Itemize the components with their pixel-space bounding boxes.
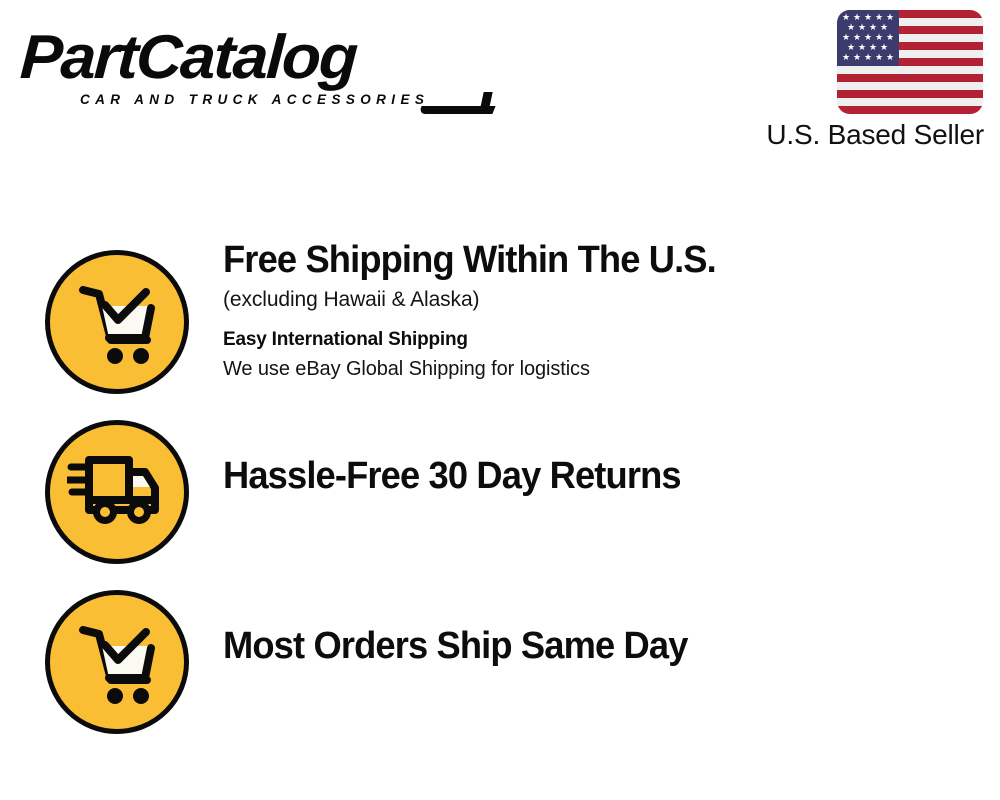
shopping-cart-check-icon bbox=[45, 590, 189, 734]
flag-stripe bbox=[837, 82, 983, 90]
feature-item: Most Orders Ship Same Day bbox=[0, 590, 1000, 740]
feature-text-block: Free Shipping Within The U.S. (excluding… bbox=[223, 238, 983, 383]
us-based-seller-label: U.S. Based Seller bbox=[766, 118, 984, 152]
feature-secondary-heading: Easy International Shipping bbox=[223, 326, 983, 354]
shopping-cart-check-icon bbox=[45, 250, 189, 394]
flag-stripe bbox=[837, 98, 983, 106]
delivery-truck-icon bbox=[45, 420, 189, 564]
flag-stripe bbox=[837, 106, 983, 114]
feature-item: Hassle-Free 30 Day Returns bbox=[0, 420, 1000, 570]
feature-heading: Free Shipping Within The U.S. bbox=[223, 238, 949, 282]
flag-canton: ★ ★ ★ ★ ★ ★ ★ ★ ★ ★ ★ ★ ★ ★ ★ ★ ★ bbox=[837, 10, 899, 66]
banner-header: PartCatalog CAR AND TRUCK ACCESSORIES bbox=[0, 0, 1000, 170]
feature-heading: Hassle-Free 30 Day Returns bbox=[223, 454, 949, 498]
brand-logo: PartCatalog CAR AND TRUCK ACCESSORIES bbox=[22, 26, 502, 116]
feature-item: Free Shipping Within The U.S. (excluding… bbox=[0, 230, 1000, 410]
brand-tagline: CAR AND TRUCK ACCESSORIES bbox=[80, 92, 429, 107]
feature-heading: Most Orders Ship Same Day bbox=[223, 624, 949, 668]
feature-subtext: (excluding Hawaii & Alaska) bbox=[223, 285, 983, 315]
flag-stripe bbox=[837, 74, 983, 82]
seller-banner-page: PartCatalog CAR AND TRUCK ACCESSORIES bbox=[0, 0, 1000, 800]
feature-text-block: Most Orders Ship Same Day bbox=[223, 624, 983, 668]
feature-secondary-subtext: We use eBay Global Shipping for logistic… bbox=[223, 355, 983, 383]
brand-wordmark: PartCatalog bbox=[19, 26, 517, 90]
us-flag-icon: ★ ★ ★ ★ ★ ★ ★ ★ ★ ★ ★ ★ ★ ★ ★ ★ ★ bbox=[837, 10, 983, 114]
us-flag-badge: ★ ★ ★ ★ ★ ★ ★ ★ ★ ★ ★ ★ ★ ★ ★ ★ ★ bbox=[837, 10, 983, 114]
logo-swash-decoration bbox=[420, 104, 500, 115]
flag-stripe bbox=[837, 66, 983, 74]
flag-stripe bbox=[837, 90, 983, 98]
feature-text-block: Hassle-Free 30 Day Returns bbox=[223, 454, 983, 498]
